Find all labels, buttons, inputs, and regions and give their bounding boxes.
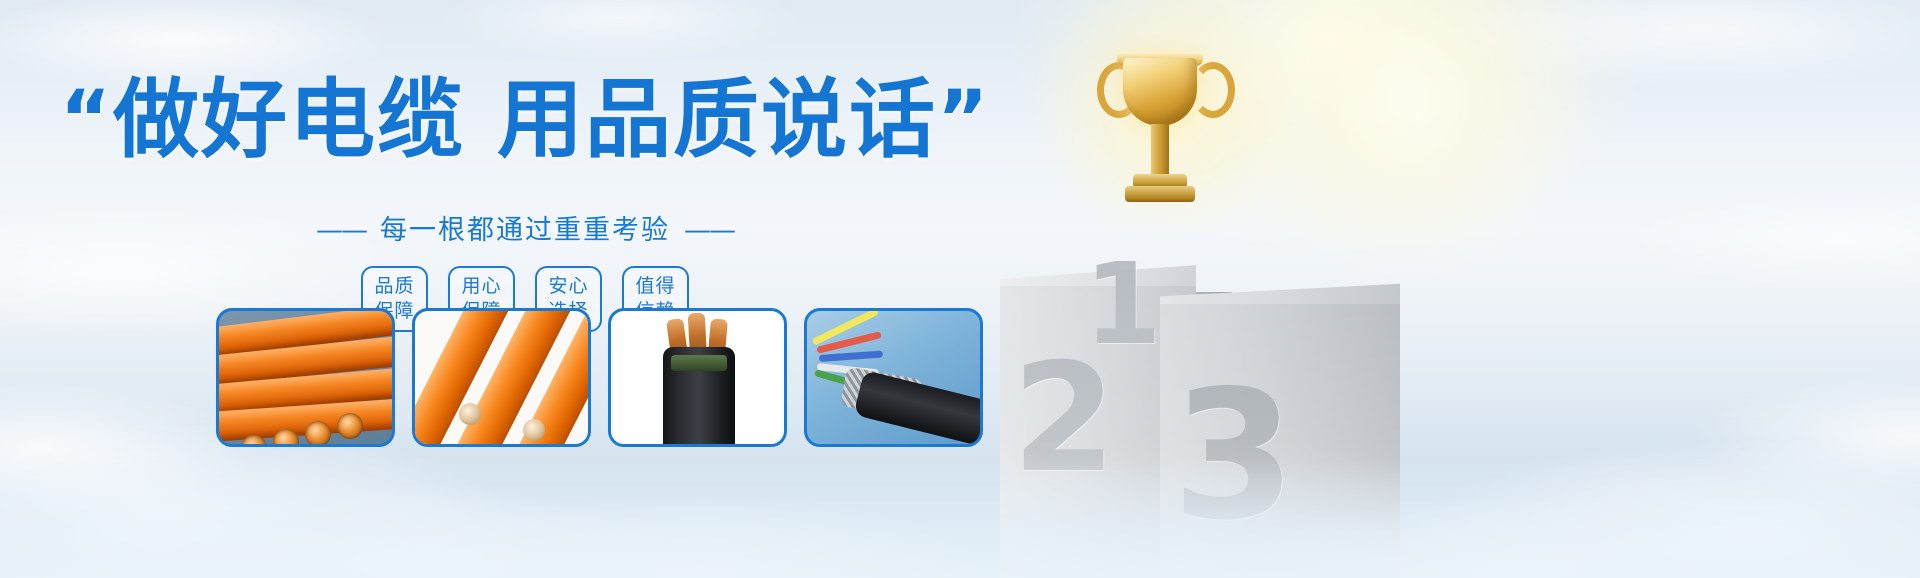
banner-headline: “做好电缆 用品质说话” [0, 70, 1050, 170]
headline-text: 做好电缆 用品质说话 [113, 70, 937, 170]
close-quote-mark: ” [937, 75, 990, 165]
banner-subtitle: ——每一根都通过重重考验—— [0, 214, 1050, 248]
trophy-stem [1151, 124, 1169, 176]
podium-number-3: 3 [1172, 352, 1296, 559]
sun-glow [1180, 0, 1640, 290]
banner-text-block: “做好电缆 用品质说话” ——每一根都通过重重考验—— 品质 保障 用心 保障 … [0, 0, 1050, 578]
trophy-base-lower [1125, 186, 1195, 202]
badge-line-1: 用心 [452, 274, 511, 299]
cable-core [523, 419, 545, 441]
badge-line-1: 安心 [539, 274, 598, 299]
open-quote-mark: “ [60, 75, 113, 165]
core-wire [819, 351, 883, 362]
trophy-handle-left [1097, 62, 1141, 118]
cable-insulation-layer [671, 355, 727, 371]
badge-line-1: 品质 [365, 274, 424, 299]
product-thumbnail-armoured-copper-cable[interactable] [608, 308, 787, 447]
product-thumbnail-shielded-multicore-cable[interactable] [804, 308, 983, 447]
trophy-base-upper [1133, 174, 1187, 188]
podium-number-1: 1 [1084, 240, 1162, 370]
subtitle-dash-right: —— [684, 215, 734, 246]
product-thumbnail-orange-cable-bundle[interactable] [216, 308, 395, 447]
cable-end-face [305, 421, 331, 447]
cable-end-face [337, 413, 363, 439]
podium-block-first-side [1196, 292, 1232, 578]
badge-line-1: 值得 [626, 274, 685, 299]
product-thumbnail-list [216, 308, 983, 447]
podium-block-third-top [1160, 284, 1400, 319]
subtitle-text: 每一根都通过重重考验 [380, 215, 670, 246]
promo-banner: 1 2 3 “做好电缆 用品质说话” ——每一根都通过重重考验—— 品质 保障 [0, 0, 1920, 578]
cable-core [459, 403, 481, 425]
subtitle-dash-left: —— [316, 215, 366, 246]
product-thumbnail-orange-cable-stripped[interactable] [412, 308, 591, 447]
podium-block-third-face [1160, 304, 1400, 578]
